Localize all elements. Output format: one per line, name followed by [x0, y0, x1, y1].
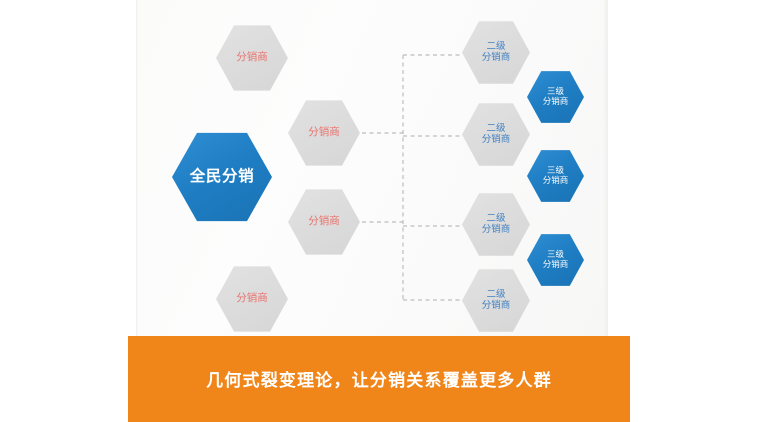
- node-label: 二级 分销商: [482, 290, 511, 311]
- node-label: 三级 分销商: [543, 166, 569, 185]
- caption-banner: 几何式裂变理论，让分销关系覆盖更多人群: [128, 336, 630, 422]
- node-label: 分销商: [236, 52, 268, 64]
- distribution-tree-diagram: 全民分销 分销商 分销商 分销商 分销商 二级 分销商 二级 分销商 二级 分销…: [138, 0, 607, 336]
- node-label: 分销商: [308, 127, 340, 139]
- node-label: 全民分销: [190, 168, 254, 185]
- node-label: 二级 分销商: [482, 214, 511, 235]
- node-label: 分销商: [236, 293, 268, 305]
- caption-text: 几何式裂变理论，让分销关系覆盖更多人群: [128, 366, 630, 391]
- node-label: 分销商: [308, 216, 340, 228]
- node-label: 三级 分销商: [543, 87, 569, 106]
- node-label: 二级 分销商: [482, 42, 511, 63]
- node-label: 三级 分销商: [543, 250, 569, 269]
- slide-stage: 全民分销 分销商 分销商 分销商 分销商 二级 分销商 二级 分销商 二级 分销…: [0, 0, 760, 422]
- node-label: 二级 分销商: [482, 124, 511, 145]
